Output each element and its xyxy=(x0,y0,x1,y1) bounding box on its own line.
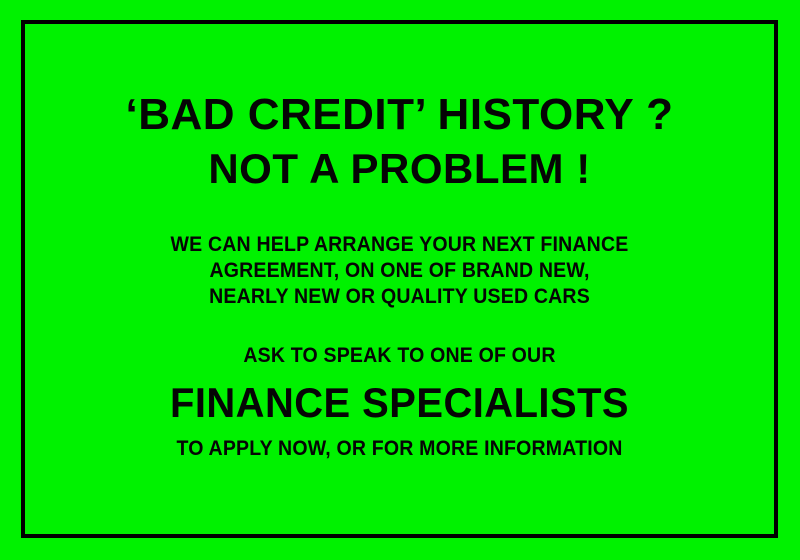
offer-line-2: AGREEMENT, ON ONE OF BRAND NEW, xyxy=(51,258,748,284)
body-block-call-to-action: ASK TO SPEAK TO ONE OF OUR FINANCE SPECI… xyxy=(25,343,774,462)
headline-line-1: ‘BAD CREDIT’ HISTORY ? xyxy=(25,87,774,142)
call-to-action-closing-line: TO APPLY NOW, OR FOR MORE INFORMATION xyxy=(51,436,748,462)
offer-line-1: WE CAN HELP ARRANGE YOUR NEXT FINANCE xyxy=(51,232,748,258)
poster-content: ‘BAD CREDIT’ HISTORY ? NOT A PROBLEM ! W… xyxy=(25,24,774,534)
body-block-offer: WE CAN HELP ARRANGE YOUR NEXT FINANCE AG… xyxy=(25,232,774,310)
headline-block: ‘BAD CREDIT’ HISTORY ? NOT A PROBLEM ! xyxy=(25,87,774,196)
headline-line-2: NOT A PROBLEM ! xyxy=(25,142,774,196)
offer-line-3: NEARLY NEW OR QUALITY USED CARS xyxy=(51,284,748,310)
poster: ‘BAD CREDIT’ HISTORY ? NOT A PROBLEM ! W… xyxy=(0,0,800,560)
finance-specialists-headline: FINANCE SPECIALISTS xyxy=(44,377,756,429)
call-to-action-lead-line: ASK TO SPEAK TO ONE OF OUR xyxy=(51,343,748,369)
